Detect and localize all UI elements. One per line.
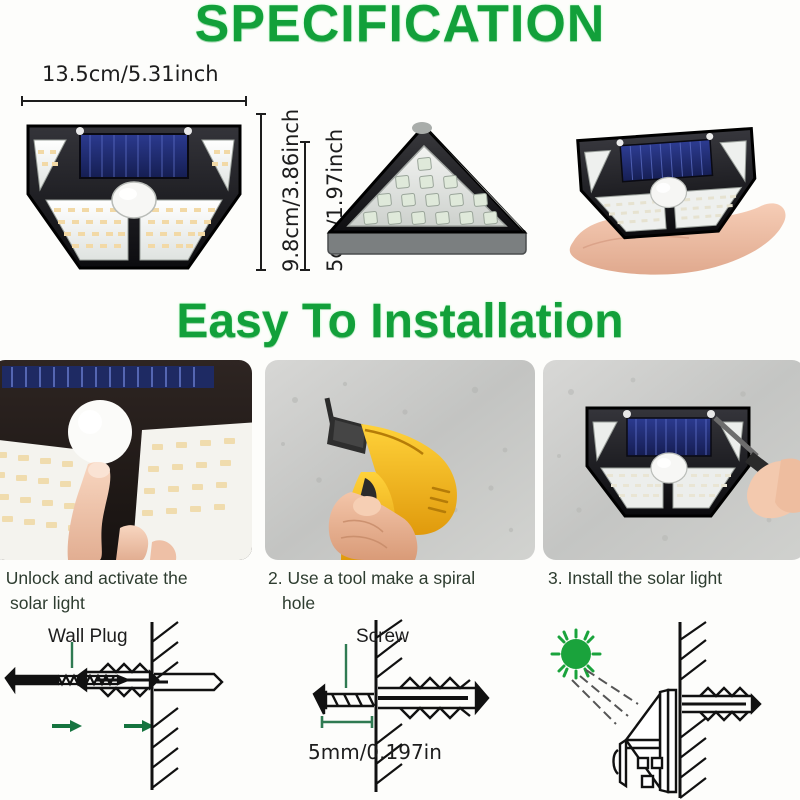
screw-label: Screw bbox=[356, 626, 409, 648]
arrow-right-icon bbox=[124, 720, 154, 732]
arrow-right-icon bbox=[52, 720, 82, 732]
step-2-caption-line1: 2. Use a tool make a spiral bbox=[268, 568, 475, 588]
step-1-photo-finger-pressing-sensor bbox=[0, 360, 252, 560]
step-1-caption-line1: . Unlock and activate the bbox=[0, 568, 188, 588]
solar-light-side-view bbox=[310, 112, 548, 272]
dimension-height-line bbox=[256, 112, 266, 272]
screw-dimension-label: 5mm/0.197in bbox=[308, 740, 442, 764]
step-3-caption: 3. Install the solar light bbox=[548, 566, 798, 591]
sun-icon bbox=[552, 630, 638, 724]
step-2-photo-drill bbox=[265, 360, 535, 560]
dimension-width-label: 13.5cm/5.31inch bbox=[42, 62, 219, 86]
dimension-width-line bbox=[20, 96, 248, 106]
solar-light-in-hand bbox=[565, 122, 793, 284]
page-title-specification: SPECIFICATION bbox=[0, 0, 800, 54]
dimension-depth-line bbox=[300, 140, 310, 272]
specification-infographic: SPECIFICATION 13.5cm/5.31inch bbox=[0, 0, 800, 800]
section-title-installation: Easy To Installation bbox=[0, 294, 800, 349]
wall-plug-label: Wall Plug bbox=[48, 626, 128, 648]
step-3-photo-mounting-light bbox=[543, 360, 800, 560]
step-2-caption: 2. Use a tool make a spiral hole bbox=[268, 566, 518, 616]
step-3-caption-line1: 3. Install the solar light bbox=[548, 568, 722, 588]
step-1-caption: . Unlock and activate the solar light bbox=[0, 566, 236, 616]
diagram-mounted-light-sun bbox=[520, 612, 800, 800]
diagram-screw bbox=[300, 612, 540, 800]
solar-light-front-view bbox=[18, 108, 250, 280]
